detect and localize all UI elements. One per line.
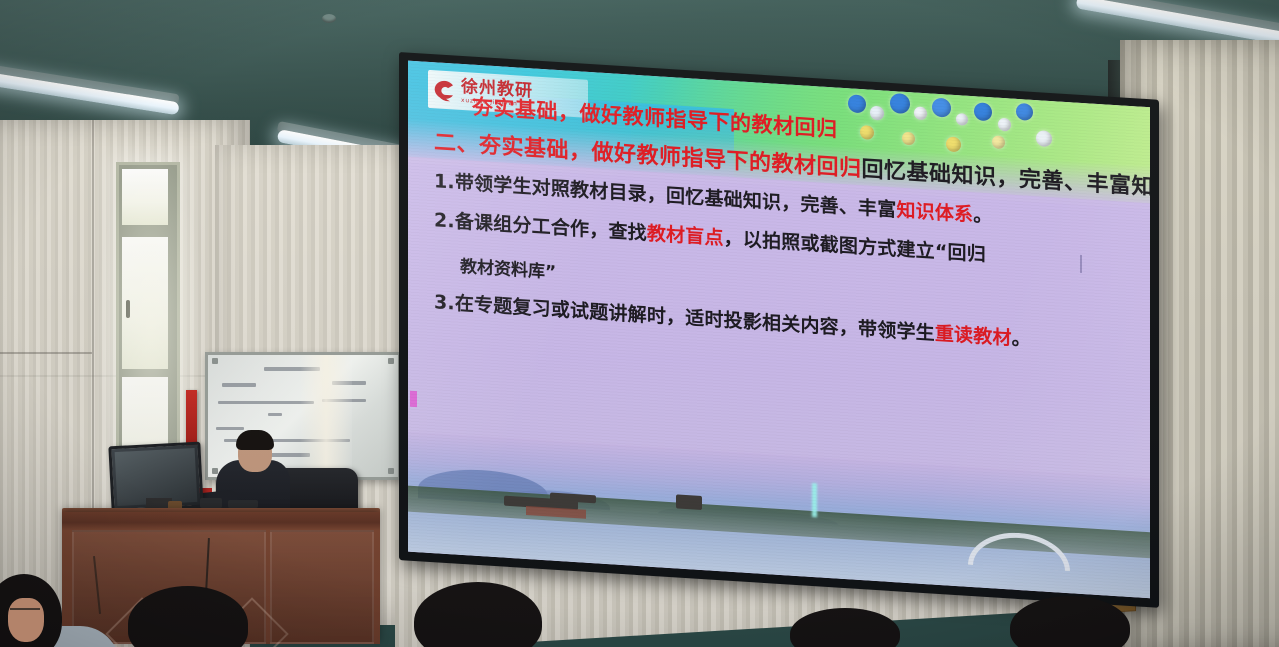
bullet-highlight: 知识体系 <box>896 199 973 226</box>
window-pane <box>122 169 168 225</box>
whiteboard-corner <box>212 358 218 364</box>
whiteboard-corner <box>212 468 218 474</box>
bullet-number: 3. <box>434 291 455 314</box>
slide-body: 二、夯实基础，做好教师指导下的教材回归回忆基础知识，完善、丰富知识体系。 1.带… <box>434 124 1132 376</box>
whiteboard-corner <box>388 358 394 364</box>
molecule-icon <box>956 113 968 126</box>
presentation-slide: 徐州教研 xuzhou jiaoyan 夯实基础，做好教师指导下的教材回归 二、… <box>408 61 1150 599</box>
molecule-icon <box>902 132 915 146</box>
molecule-icon <box>890 93 910 114</box>
logo-e-icon <box>432 75 458 105</box>
molecule-icon <box>1016 103 1033 121</box>
whiteboard-writing <box>216 427 244 430</box>
molecule-icon <box>998 118 1011 132</box>
bullet-text-after: 。 <box>1012 327 1031 350</box>
molecule-icon <box>860 125 874 140</box>
molecule-icon <box>848 94 866 113</box>
molecule-icon <box>932 98 951 118</box>
whiteboard-corner <box>388 468 394 474</box>
molecule-icon <box>946 136 961 152</box>
scenic-pagoda <box>676 494 702 510</box>
led-video-wall[interactable]: 徐州教研 xuzhou jiaoyan 夯实基础，做好教师指导下的教材回归 二、… <box>399 52 1159 608</box>
window-handle[interactable] <box>126 300 130 318</box>
wall-seam <box>0 352 92 354</box>
slide-edge-marker <box>410 391 417 407</box>
audience-face <box>8 598 44 642</box>
scenic-light-streak <box>812 483 817 517</box>
bullet-text-after: 。 <box>973 204 992 227</box>
whiteboard-writing <box>222 383 256 387</box>
heading-number: 二、 <box>434 130 479 158</box>
podium-panel <box>270 530 374 644</box>
bullet-highlight: 重读教材 <box>935 323 1012 350</box>
molecule-icon <box>992 135 1005 149</box>
bullet-text: 备课组分工合作，查找 <box>455 210 647 244</box>
smoke-detector-icon <box>322 14 336 23</box>
bullet-number: 2. <box>434 209 455 232</box>
classroom-photo: 徐州教研 xuzhou jiaoyan 夯实基础，做好教师指导下的教材回归 二、… <box>0 0 1279 647</box>
bullet-text-after: ，以拍照或截图方式建立“回归 <box>724 227 986 266</box>
molecule-icon <box>974 102 992 121</box>
bullet-highlight: 教材盲点 <box>647 223 724 250</box>
molecule-icon <box>870 106 884 121</box>
bullet-number: 1. <box>434 170 455 193</box>
molecule-icon <box>1036 130 1052 147</box>
desk-item <box>228 500 258 508</box>
whiteboard-glare <box>300 355 352 477</box>
glasses-icon <box>10 608 40 618</box>
text-cursor <box>1080 255 1082 273</box>
desk-item <box>200 498 222 508</box>
screen-display-area: 徐州教研 xuzhou jiaoyan 夯实基础，做好教师指导下的教材回归 二、… <box>408 61 1150 599</box>
lecturer-hair <box>236 430 274 450</box>
molecule-icon <box>914 106 927 120</box>
whiteboard-writing <box>268 413 282 416</box>
